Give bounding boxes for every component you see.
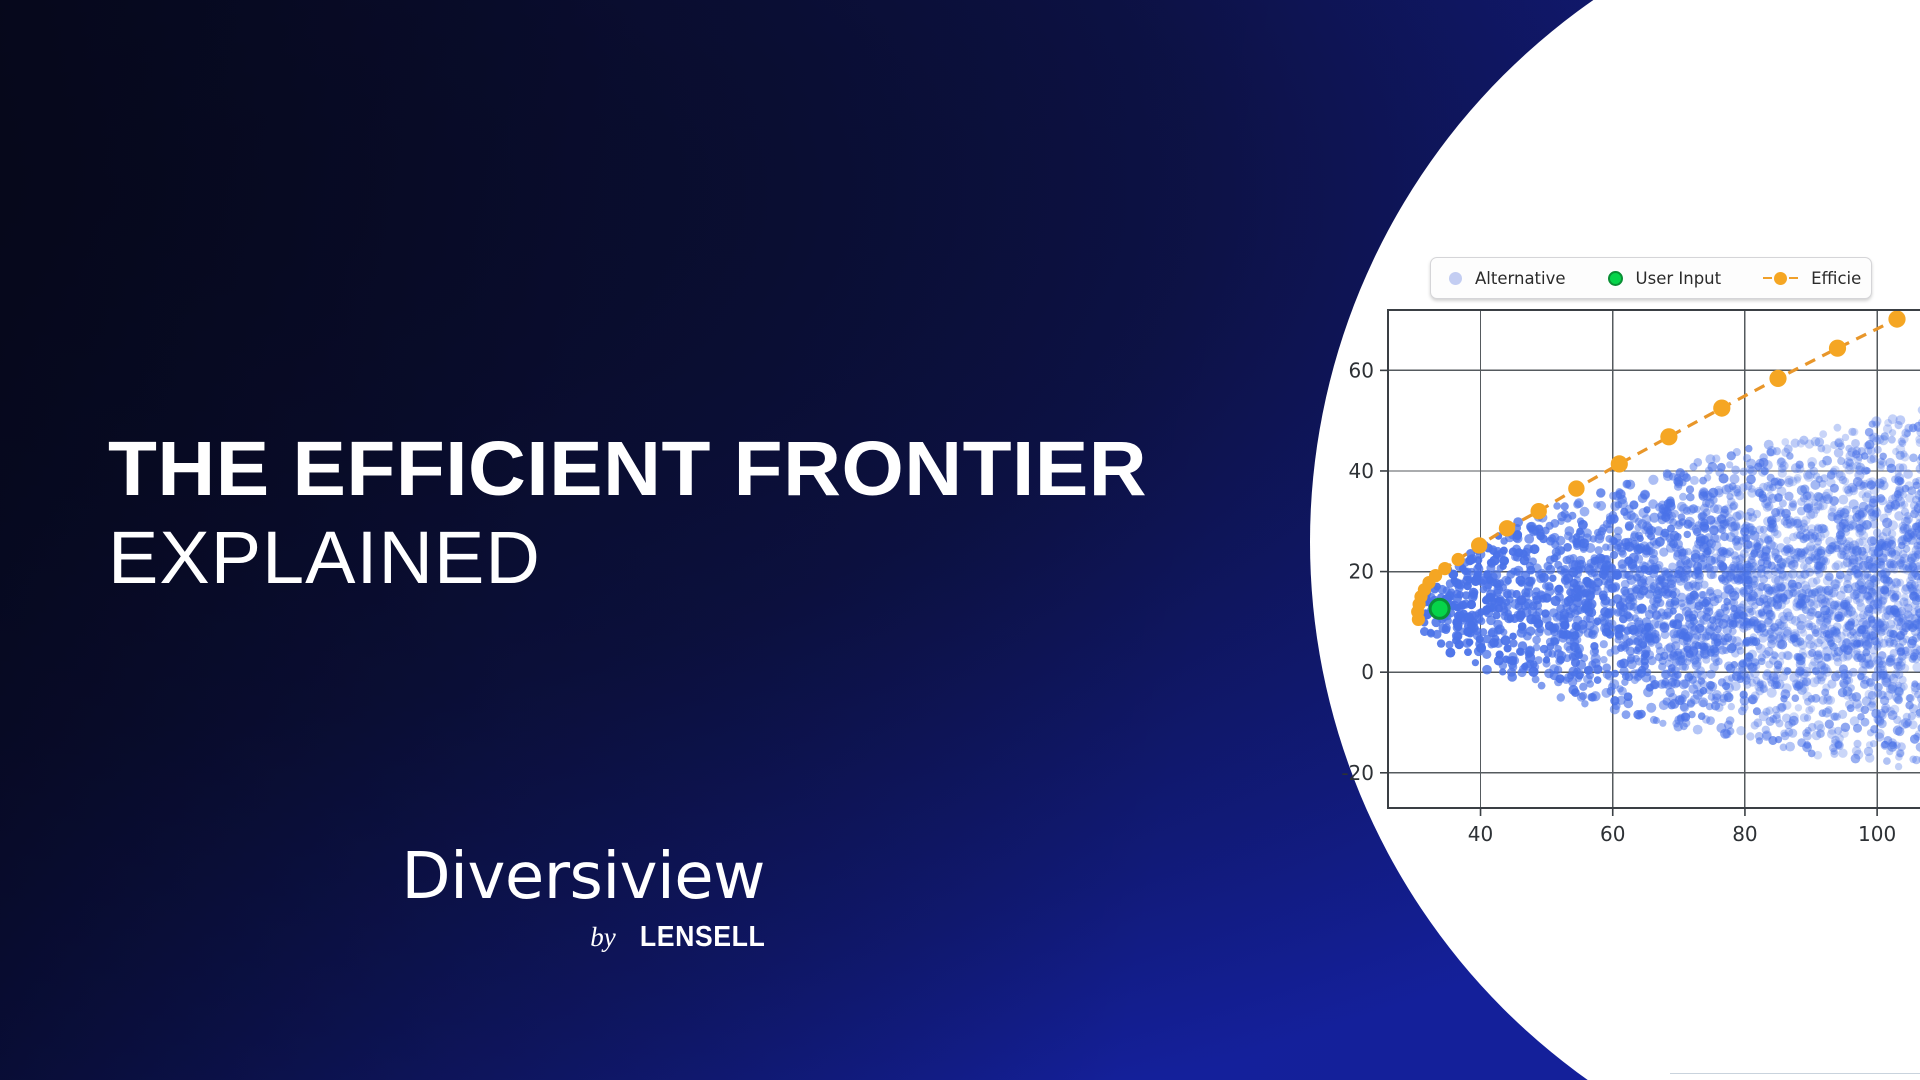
svg-text:0: 0 — [1361, 660, 1374, 684]
brand-product-name: Diversiview — [401, 845, 765, 909]
x-axis: 406080100 — [1468, 808, 1896, 846]
svg-text:40: 40 — [1468, 822, 1493, 846]
legend-user-input-label: User Input — [1636, 269, 1722, 288]
svg-text:-20: -20 — [1341, 761, 1374, 785]
y-axis: -200204060 — [1341, 358, 1388, 784]
legend-efficient-frontier-label: Efficie — [1811, 269, 1861, 288]
legend-item-alternative: Alternative — [1449, 269, 1608, 288]
legend-efficient-frontier-marker-icon — [1763, 272, 1798, 285]
legend-alternative-dot-icon — [1449, 272, 1462, 285]
user-input-point — [1430, 599, 1449, 618]
chart-canvas: -200204060 406080100 — [1330, 240, 1920, 860]
brand-company-name: LENSELL — [640, 921, 765, 954]
brand-by-label: by — [590, 922, 615, 953]
page-title-secondary: EXPLAINED — [108, 517, 1127, 600]
headline-block: THE EFFICIENT FRONTIER EXPLAINED — [108, 432, 1107, 600]
efficient-frontier-chart: Alternative User Input Efficie — [1330, 240, 1920, 860]
brand-block: Diversiview by LENSELL — [401, 845, 765, 954]
legend-user-input-dot-icon — [1608, 271, 1623, 286]
svg-text:60: 60 — [1600, 822, 1625, 846]
legend-item-user-input: User Input — [1608, 269, 1764, 288]
svg-text:60: 60 — [1349, 358, 1374, 382]
brand-attribution: by LENSELL — [401, 921, 765, 954]
legend-item-efficient-frontier: Efficie — [1763, 269, 1861, 288]
svg-text:100: 100 — [1858, 822, 1896, 846]
chart-legend: Alternative User Input Efficie — [1430, 257, 1872, 299]
legend-alternative-label: Alternative — [1475, 269, 1566, 288]
page-title-primary: THE EFFICIENT FRONTIER — [108, 432, 1147, 507]
svg-text:20: 20 — [1349, 560, 1374, 584]
bottom-edge-hairline — [1670, 1073, 1920, 1074]
svg-text:40: 40 — [1349, 459, 1374, 483]
svg-text:80: 80 — [1732, 822, 1757, 846]
